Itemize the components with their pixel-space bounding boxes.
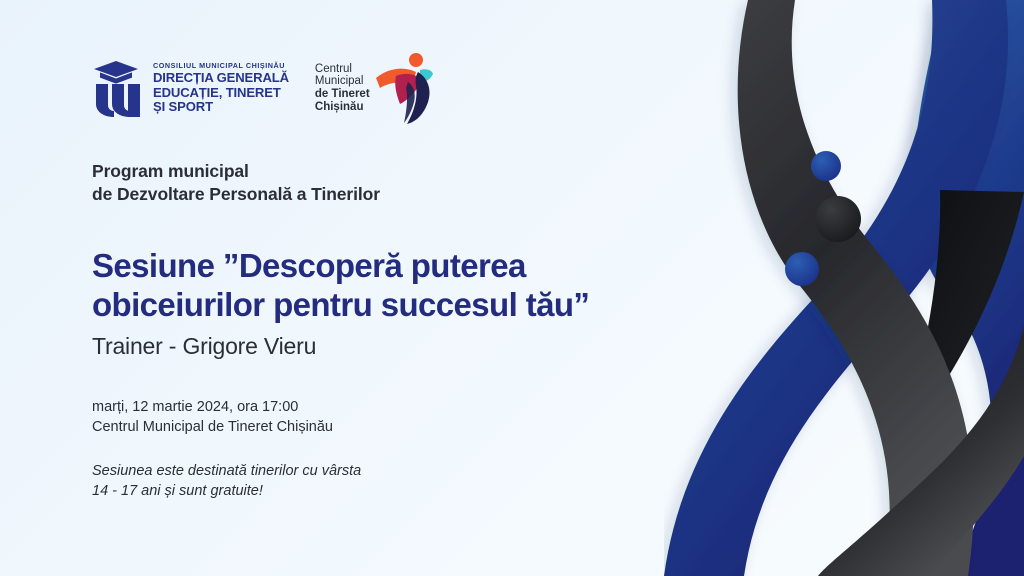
logo-dges-wordmark: CONSILIUL MUNICIPAL CHIȘINĂU DIRECȚIA GE… bbox=[153, 61, 289, 114]
logo-row: CONSILIUL MUNICIPAL CHIȘINĂU DIRECȚIA GE… bbox=[92, 52, 434, 124]
stylized-person-figure-icon bbox=[374, 52, 434, 124]
event-datetime: marți, 12 martie 2024, ora 17:00 bbox=[92, 397, 652, 417]
circle-blue-bottom bbox=[785, 252, 819, 286]
wave-black-sliver bbox=[898, 190, 1024, 452]
poster-canvas: CONSILIUL MUNICIPAL CHIȘINĂU DIRECȚIA GE… bbox=[0, 0, 1024, 576]
wave-dark-lower bbox=[818, 326, 1024, 576]
logo-cmt-line-3: de Tineret bbox=[315, 88, 370, 101]
session-title: Sesiune ”Descoperă puterea obiceiurilor … bbox=[92, 246, 652, 324]
program-heading: Program municipal de Dezvoltare Personal… bbox=[92, 160, 652, 206]
logo-dges-line-1: DIRECȚIA GENERALĂ bbox=[153, 71, 289, 85]
wave-dark-main bbox=[738, 0, 974, 576]
event-venue: Centrul Municipal de Tineret Chișinău bbox=[92, 417, 652, 437]
logo-cmt-line-2: Municipal bbox=[315, 75, 370, 88]
logo-dges: CONSILIUL MUNICIPAL CHIȘINĂU DIRECȚIA GE… bbox=[92, 57, 289, 119]
decorative-waves-artwork bbox=[664, 0, 1024, 576]
event-details: marți, 12 martie 2024, ora 17:00 Centrul… bbox=[92, 397, 652, 437]
graduation-cap-u-monogram-icon bbox=[92, 57, 144, 119]
logo-dges-line-2: EDUCAȚIE, TINERET bbox=[153, 86, 289, 100]
trainer-line: Trainer - Grigore Vieru bbox=[92, 332, 652, 361]
logo-cmt-line-4: Chișinău bbox=[315, 101, 370, 114]
audience-note: Sesiunea este destinată tinerilor cu vâr… bbox=[92, 461, 652, 501]
poster-content: Program municipal de Dezvoltare Personal… bbox=[92, 160, 652, 501]
logo-dges-line-3: ȘI SPORT bbox=[153, 100, 289, 114]
circle-blue-top bbox=[811, 151, 841, 181]
program-heading-line-2: de Dezvoltare Personală a Tinerilor bbox=[92, 183, 652, 206]
logo-cmt: Centrul Municipal de Tineret Chișinău bbox=[315, 52, 434, 124]
wave-blue-main bbox=[664, 0, 1008, 576]
program-heading-line-1: Program municipal bbox=[92, 160, 652, 183]
logo-cmt-wordmark: Centrul Municipal de Tineret Chișinău bbox=[315, 63, 370, 113]
audience-note-line-2: 14 - 17 ani și sunt gratuite! bbox=[92, 481, 652, 501]
wave-blue-far bbox=[913, 0, 1024, 576]
logo-cmt-line-1: Centrul bbox=[315, 63, 370, 76]
circle-dark-middle bbox=[815, 196, 861, 242]
audience-note-line-1: Sesiunea este destinată tinerilor cu vâr… bbox=[92, 461, 652, 481]
